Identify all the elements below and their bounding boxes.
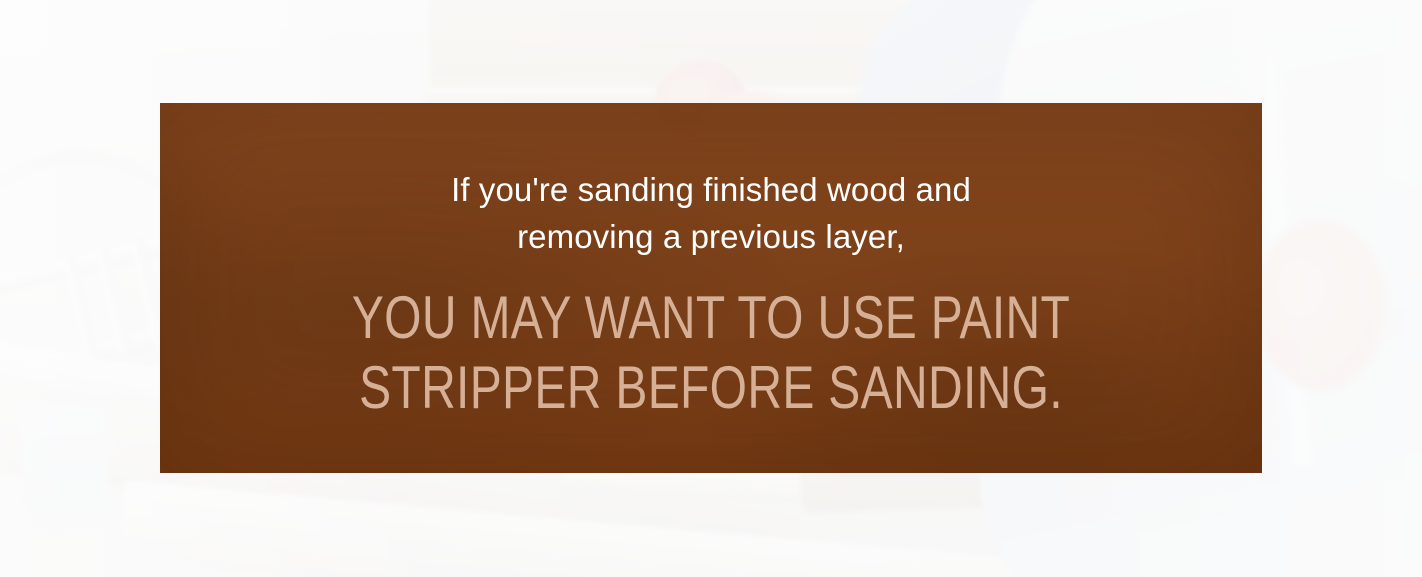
text-overlay-panel: If you're sanding finished wood and remo… (160, 103, 1262, 473)
promo-banner: If you're sanding finished wood and remo… (0, 0, 1422, 577)
intro-text: If you're sanding finished wood and remo… (160, 166, 1262, 260)
overlay-content: If you're sanding finished wood and remo… (160, 103, 1262, 423)
headline-line-2: STRIPPER BEFORE SANDING. (270, 353, 1152, 423)
intro-line-2: removing a previous layer, (280, 213, 1142, 260)
headline-text: YOU MAY WANT TO USE PAINT STRIPPER BEFOR… (270, 283, 1152, 423)
headline-line-1: YOU MAY WANT TO USE PAINT (270, 283, 1152, 353)
intro-line-1: If you're sanding finished wood and (280, 166, 1142, 213)
